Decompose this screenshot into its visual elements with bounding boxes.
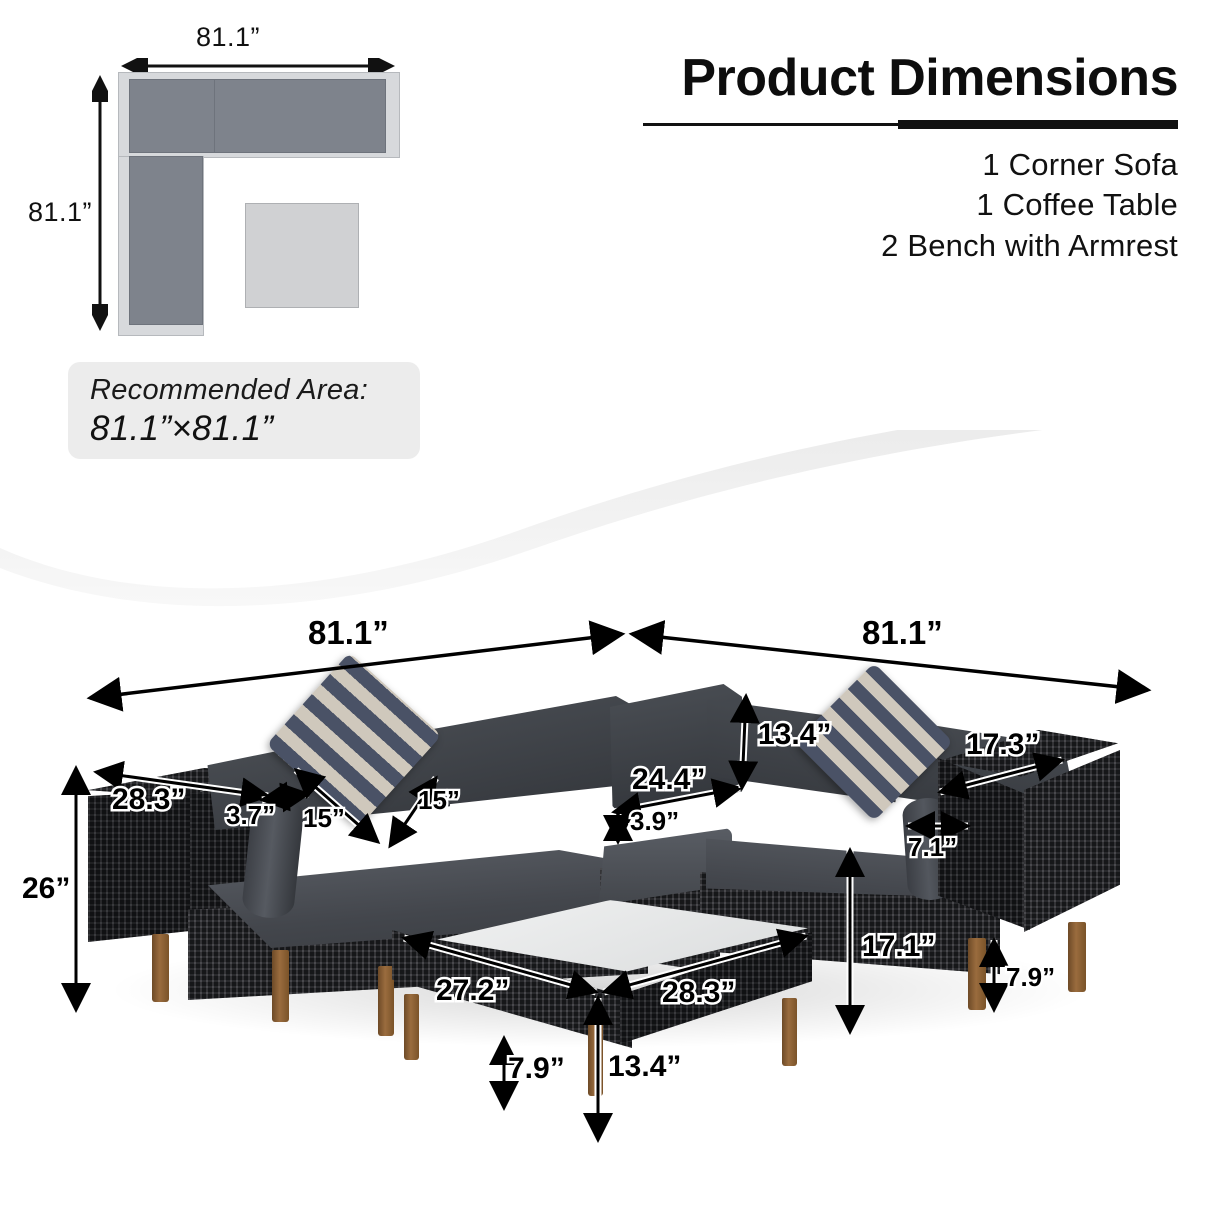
page-title: Product Dimensions — [681, 48, 1178, 108]
plan-depth-arrow — [92, 72, 108, 334]
included-items-list: 1 Corner Sofa 1 Coffee Table 2 Bench wit… — [881, 145, 1178, 266]
dimension-label-seat-back-height: 17.1” — [862, 930, 935, 964]
included-item: 2 Bench with Armrest — [881, 226, 1178, 266]
dimension-label-back-cushion-height: 13.4” — [758, 718, 831, 752]
title-underline-thin — [643, 123, 905, 126]
dimension-label-table-width: 28.3” — [662, 976, 735, 1010]
dimension-label-table-height: 13.4” — [608, 1050, 681, 1084]
dimension-label-pillow-side-a: 15” — [303, 803, 345, 834]
product-photo: 81.1” 81.1” 28.3” 3.7” 15” 15” 24.4” 3.9… — [0, 600, 1214, 1214]
recommended-area-caption: Recommended Area: — [90, 374, 368, 407]
plan-top-seat-left — [129, 79, 216, 153]
dimension-label-sofa-leg-height: 7.9” — [1006, 962, 1055, 993]
dimension-label-table-depth: 27.2” — [436, 974, 509, 1008]
included-item: 1 Coffee Table — [881, 185, 1178, 225]
dimension-label-overall-right: 81.1” — [862, 614, 943, 652]
title-underline-thick — [898, 120, 1178, 129]
recommended-area-value: 81.1”×81.1” — [90, 409, 273, 449]
dimension-label-bolster-width: 7.1” — [908, 832, 957, 863]
dimension-label-overall-left: 81.1” — [308, 614, 389, 652]
plan-left-seat — [129, 156, 203, 325]
plan-coffee-table — [245, 203, 359, 308]
dimension-label-seat-thickness: 3.9” — [630, 806, 679, 837]
plan-depth-label: 81.1” — [28, 197, 92, 228]
photo-dimension-arrows — [0, 600, 1214, 1214]
included-item: 1 Corner Sofa — [881, 145, 1178, 185]
dimension-label-table-leg-height: 7.9” — [508, 1052, 565, 1086]
dimension-label-overall-height: 26” — [22, 872, 70, 906]
plan-width-label: 81.1” — [196, 22, 260, 53]
title-underline — [643, 120, 1178, 129]
infographic-canvas: 81.1” 81.1” — [0, 0, 1214, 1214]
dimension-label-pillow-side-b: 15” — [418, 785, 460, 816]
dimension-label-arm-depth: 28.3” — [112, 783, 185, 817]
dimension-label-arm-width: 3.7” — [226, 800, 275, 831]
recommended-area-box: Recommended Area: 81.1”×81.1” — [68, 362, 420, 459]
plan-top-seat-right — [214, 79, 386, 153]
floor-plan-diagram: 81.1” 81.1” — [0, 0, 470, 470]
dimension-label-seat-depth: 24.4” — [632, 763, 705, 797]
dimension-label-arm-top-depth: 17.3” — [966, 728, 1039, 762]
